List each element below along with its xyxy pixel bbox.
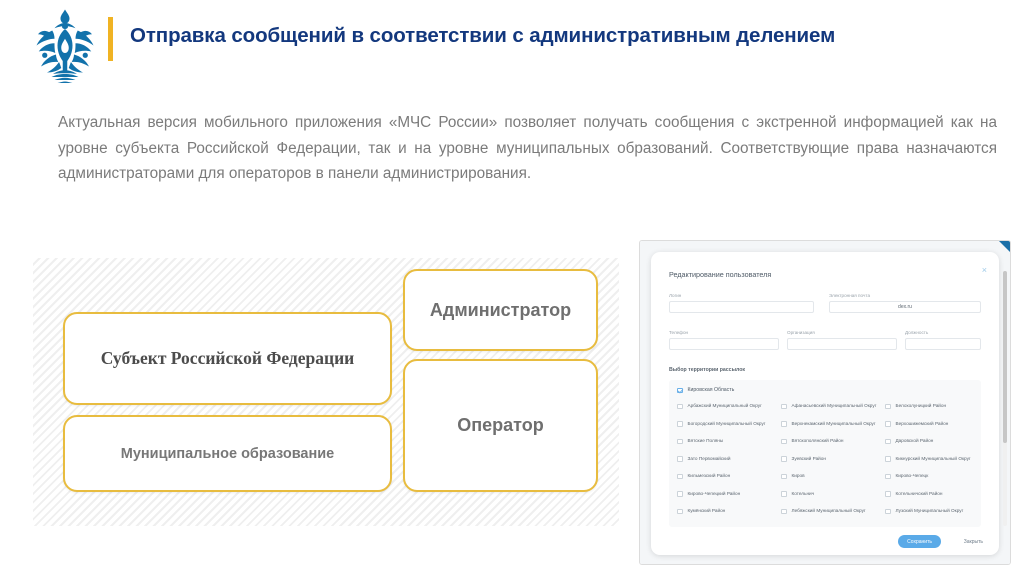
- phone-input[interactable]: [669, 338, 779, 350]
- district-label: Зато Первомайский: [688, 456, 731, 462]
- field-position: Должность: [905, 330, 981, 350]
- diagram-box-municipal: Муниципальное образование: [63, 415, 392, 492]
- field-organization-label: Организация: [787, 330, 897, 335]
- district-label: Лузский Муниципальный Округ: [896, 508, 964, 514]
- district-checkbox-item[interactable]: Кильмезский Район: [677, 471, 779, 489]
- field-email: Электронная почта dex.ru: [829, 293, 981, 313]
- diagram-box-subject-label: Субъект Российской Федерации: [101, 348, 355, 369]
- checkbox-icon[interactable]: [781, 439, 787, 445]
- checkbox-icon[interactable]: [781, 421, 787, 427]
- intro-paragraph: Актуальная версия мобильного приложения …: [58, 110, 997, 187]
- checkbox-icon[interactable]: [677, 491, 683, 497]
- checkbox-icon[interactable]: [781, 456, 787, 462]
- checkbox-icon[interactable]: [885, 421, 891, 427]
- district-checkbox-item[interactable]: Верхошижемский Район: [885, 419, 981, 437]
- checkbox-icon[interactable]: [885, 456, 891, 462]
- district-label: Богородский Муниципальный Округ: [688, 421, 766, 427]
- corner-accent-marker: [999, 241, 1010, 252]
- district-label: Верхнекамский Муниципальный Округ: [792, 421, 876, 427]
- district-label: Котельнич: [792, 491, 815, 497]
- district-checkbox-item[interactable]: Афанасьевский Муниципальный Округ: [781, 401, 883, 419]
- region-checkbox-row[interactable]: Кировская Область: [677, 387, 973, 393]
- district-checkbox-item[interactable]: Киров: [781, 471, 883, 489]
- checkbox-icon[interactable]: [677, 421, 683, 427]
- checkbox-icon[interactable]: [885, 474, 891, 480]
- field-organization: Организация: [787, 330, 897, 350]
- district-checkbox-item[interactable]: Котельнич: [781, 489, 883, 507]
- district-checkbox-item[interactable]: Белохолуницкий Район: [885, 401, 981, 419]
- district-checkbox-item[interactable]: Зуевский Район: [781, 454, 883, 472]
- position-input[interactable]: [905, 338, 981, 350]
- diagram-box-administrator: Администратор: [403, 269, 598, 351]
- modal-footer: Сохранить Закрыть: [651, 529, 999, 555]
- diagram-box-municipal-label: Муниципальное образование: [121, 446, 334, 462]
- field-phone-label: Телефон: [669, 330, 779, 335]
- district-checkbox-item[interactable]: Кумёнский Район: [677, 506, 779, 524]
- district-checkbox-item[interactable]: Вятскополянский Район: [781, 436, 883, 454]
- district-label: Белохолуницкий Район: [896, 403, 947, 409]
- district-checkbox-item[interactable]: Лузский Муниципальный Округ: [885, 506, 981, 524]
- checkbox-icon[interactable]: [885, 491, 891, 497]
- panel-scrollbar-thumb[interactable]: [1003, 271, 1007, 443]
- district-checkbox-item[interactable]: Вятские Поляны: [677, 436, 779, 454]
- checkbox-icon[interactable]: [781, 509, 787, 515]
- district-label: Кумёнский Район: [688, 508, 726, 514]
- checkbox-icon[interactable]: [885, 439, 891, 445]
- diagram-box-subject: Субъект Российской Федерации: [63, 312, 392, 405]
- edit-user-modal: Редактирование пользователя × Логин Элек…: [651, 252, 999, 555]
- login-input[interactable]: [669, 301, 814, 313]
- district-label: Вятские Поляны: [688, 438, 724, 444]
- district-label: Котельничский Район: [896, 491, 943, 497]
- panel-scrollbar[interactable]: [1003, 271, 1007, 526]
- checkbox-icon[interactable]: [677, 509, 683, 515]
- district-label: Верхошижемский Район: [896, 421, 949, 427]
- district-checkbox-item[interactable]: Кикнурский Муниципальный Округ: [885, 454, 981, 472]
- checkbox-icon[interactable]: [677, 474, 683, 480]
- organization-input[interactable]: [787, 338, 897, 350]
- field-position-label: Должность: [905, 330, 981, 335]
- district-checkbox-item[interactable]: Зато Первомайский: [677, 454, 779, 472]
- title-accent-bar: [108, 17, 113, 61]
- district-checkbox-item[interactable]: Богородский Муниципальный Округ: [677, 419, 779, 437]
- district-checkbox-item[interactable]: Арбажский Муниципальный Округ: [677, 401, 779, 419]
- district-checkbox-item[interactable]: Кирово-Чепецкий Район: [677, 489, 779, 507]
- checkbox-icon[interactable]: [677, 439, 683, 445]
- district-label: Кильмезский Район: [688, 473, 731, 479]
- district-grid: Арбажский Муниципальный ОкругАфанасьевск…: [677, 401, 973, 524]
- district-label: Кирово-Чепецкий Район: [688, 491, 741, 497]
- diagram-box-administrator-label: Администратор: [430, 300, 571, 321]
- district-label: Лебяжский Муниципальный Округ: [792, 508, 866, 514]
- district-label: Вятскополянский Район: [792, 438, 844, 444]
- field-login: Логин: [669, 293, 814, 313]
- district-label: Даровской Район: [896, 438, 934, 444]
- admin-app-screenshot: Редактирование пользователя × Логин Элек…: [639, 240, 1011, 565]
- checkbox-icon[interactable]: [781, 474, 787, 480]
- mchs-emblem-icon: [27, 8, 103, 86]
- checkbox-icon[interactable]: [885, 404, 891, 410]
- territory-selection-list: Кировская Область Арбажский Муниципальны…: [669, 380, 981, 527]
- diagram-box-operator: Оператор: [403, 359, 598, 492]
- cancel-button[interactable]: Закрыть: [964, 539, 983, 545]
- field-email-label: Электронная почта: [829, 293, 981, 298]
- modal-title: Редактирование пользователя: [669, 270, 771, 279]
- checkbox-icon[interactable]: [677, 404, 683, 410]
- territory-section-label: Выбор территории рассылок: [669, 367, 745, 373]
- district-label: Афанасьевский Муниципальный Округ: [792, 403, 877, 409]
- roles-diagram: Субъект Российской Федерации Муниципальн…: [33, 258, 619, 526]
- page-header: Отправка сообщений в соответствии с адми…: [0, 0, 1024, 92]
- checkbox-icon[interactable]: [677, 456, 683, 462]
- save-button[interactable]: Сохранить: [898, 535, 941, 548]
- district-label: Арбажский Муниципальный Округ: [688, 403, 762, 409]
- district-label: Кикнурский Муниципальный Округ: [896, 456, 971, 462]
- diagram-box-operator-label: Оператор: [457, 415, 543, 436]
- close-icon[interactable]: ×: [982, 266, 987, 275]
- district-checkbox-item[interactable]: Лебяжский Муниципальный Округ: [781, 506, 883, 524]
- checkbox-icon[interactable]: [781, 404, 787, 410]
- checkbox-icon-region[interactable]: [677, 388, 683, 394]
- district-label: Зуевский Район: [792, 456, 827, 462]
- checkbox-icon[interactable]: [781, 491, 787, 497]
- field-phone: Телефон: [669, 330, 779, 350]
- district-checkbox-item[interactable]: Верхнекамский Муниципальный Округ: [781, 419, 883, 437]
- page-title: Отправка сообщений в соответствии с адми…: [130, 24, 1010, 48]
- district-label: Кирово-Чепецк: [896, 473, 929, 479]
- district-label: Киров: [792, 473, 805, 479]
- field-login-label: Логин: [669, 293, 814, 298]
- district-checkbox-item[interactable]: Даровской Район: [885, 436, 981, 454]
- district-checkbox-item[interactable]: Кирово-Чепецк: [885, 471, 981, 489]
- region-label: Кировская Область: [688, 387, 735, 393]
- checkbox-icon[interactable]: [885, 509, 891, 515]
- email-input[interactable]: dex.ru: [829, 301, 981, 313]
- district-checkbox-item[interactable]: Котельничский Район: [885, 489, 981, 507]
